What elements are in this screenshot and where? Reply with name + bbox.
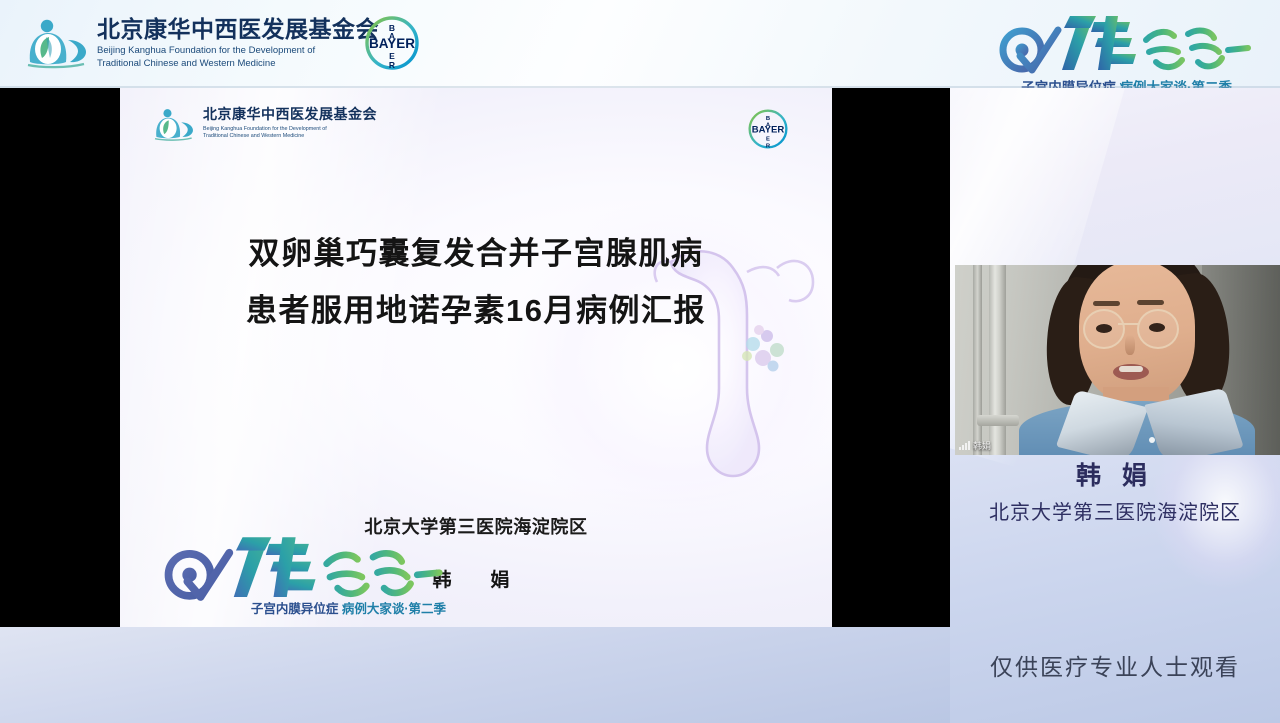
foundation-name-cn: 北京康华中西医发展基金会 — [97, 18, 379, 42]
svg-text:B: B — [766, 116, 770, 122]
foundation-name-block: 北京康华中西医发展基金会 Beijing Kanghua Foundation … — [203, 109, 377, 141]
eyeglass-bridge — [1118, 323, 1138, 325]
eyebrow-right — [1137, 300, 1164, 305]
foundation-name-cn: 北京康华中西医发展基金会 — [203, 109, 377, 124]
brand-mark-row — [1006, 4, 1256, 80]
video-pipe — [989, 265, 1006, 455]
broadcast-screen: 北京康华中西医发展基金会 Beijing Kanghua Foundation … — [0, 0, 1280, 723]
slide-foundation-logo: 北京康华中西医发展基金会 Beijing Kanghua Foundation … — [152, 108, 377, 142]
slide-title-line-2: 患者服用地诺孕素16月病例汇报 — [120, 295, 832, 326]
foundation-name-en: Beijing Kanghua Foundation for the Devel… — [203, 126, 377, 142]
speaker-video-tile[interactable]: 韩娟 — [955, 265, 1280, 455]
top-header-bar: 北京康华中西医发展基金会 Beijing Kanghua Foundation … — [0, 0, 1280, 88]
slide-title-line-1: 双卵巢巧囊复发合并子宫腺肌病 — [120, 238, 832, 269]
video-pipe-joint — [977, 415, 1019, 426]
header-foundation-logo: 北京康华中西医发展基金会 Beijing Kanghua Foundation … — [24, 18, 379, 70]
video-pipe-detail — [973, 265, 982, 455]
slide-bayer-logo: BAYER B A E R — [746, 106, 790, 157]
speaker-figure — [1021, 265, 1251, 455]
eye-left — [1096, 324, 1112, 333]
slide-canvas[interactable]: 北京康华中西医发展基金会 Beijing Kanghua Foundation … — [120, 88, 832, 627]
brand-mark-row — [160, 524, 460, 608]
bayer-cross-logo-icon: BAYER B A E R — [746, 106, 790, 152]
speaker-panel: 韩娟 韩 娟 北京大学第三医院海淀院区 仅供医疗专业人士观看 — [950, 88, 1280, 723]
svg-text:A: A — [389, 31, 395, 41]
shirt-button — [1149, 437, 1155, 443]
eyebrow-left — [1093, 301, 1120, 306]
bayer-cross-logo-icon: BAYER B A E R — [362, 12, 422, 74]
slide-title: 双卵巢巧囊复发合并子宫腺肌病 患者服用地诺孕素16月病例汇报 — [120, 238, 832, 352]
svg-text:E: E — [766, 137, 770, 143]
foundation-name-en: Beijing Kanghua Foundation for the Devel… — [97, 45, 379, 70]
kanghua-foundation-logo-icon — [24, 18, 90, 70]
q-jian-brand-logo-icon — [1006, 4, 1256, 80]
q-jian-brand-logo-icon — [160, 524, 460, 608]
teeth — [1119, 366, 1143, 372]
speaker-name: 韩 娟 — [950, 456, 1280, 492]
speaker-organization: 北京大学第三医院海淀院区 — [950, 496, 1280, 525]
svg-text:R: R — [389, 60, 395, 70]
professional-disclaimer: 仅供医疗专业人士观看 — [950, 648, 1280, 682]
presentation-stage[interactable]: 北京康华中西医发展基金会 Beijing Kanghua Foundation … — [0, 88, 950, 627]
bottom-gradient-bar — [0, 627, 950, 723]
foundation-name-block: 北京康华中西医发展基金会 Beijing Kanghua Foundation … — [97, 18, 379, 70]
kanghua-foundation-logo-icon — [152, 108, 196, 142]
video-name-tag: 韩娟 — [959, 439, 991, 452]
eye-right — [1149, 323, 1165, 332]
signal-bars-icon — [959, 441, 970, 450]
header-brand-logo: 子宫内膜异位症 病例大家谈·第二季 — [1006, 4, 1256, 88]
brand-subtitle: 子宫内膜异位症 病例大家谈·第二季 — [1006, 76, 1256, 88]
video-name-label: 韩娟 — [973, 439, 991, 452]
nose — [1125, 335, 1135, 355]
slide-brand-logo: 子宫内膜异位症 病例大家谈·第二季 — [160, 524, 460, 617]
